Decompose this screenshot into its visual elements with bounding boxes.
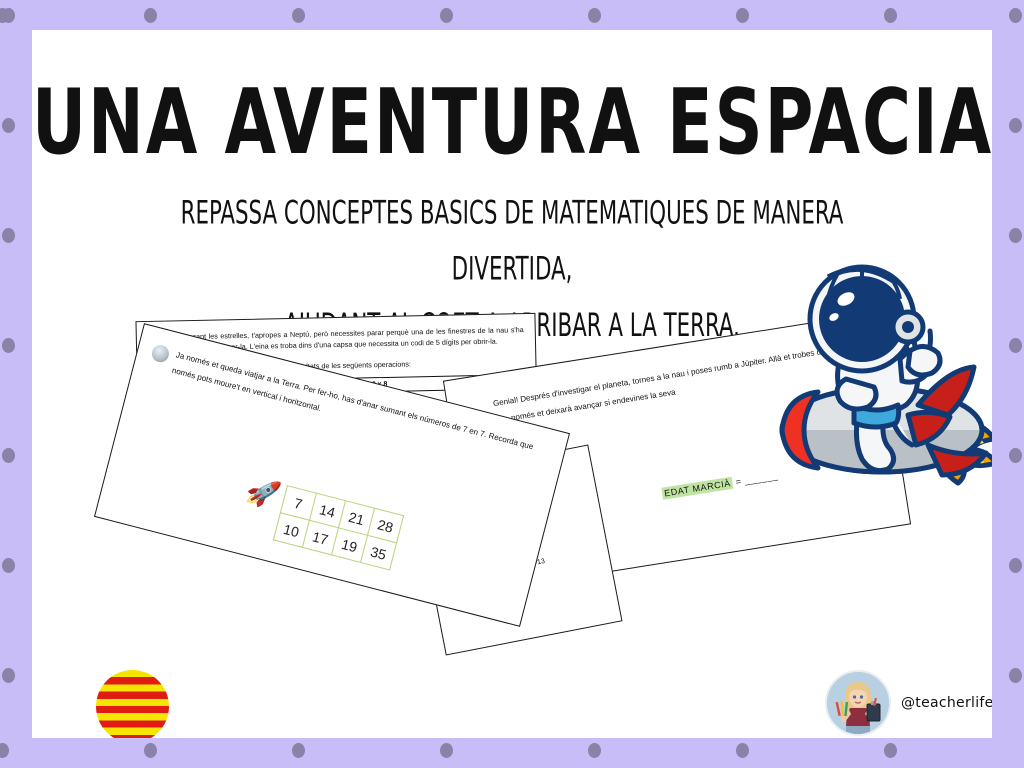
border-dot [884,743,897,758]
grid-cell[interactable]: 35 [361,535,397,570]
page-title: UNA AVENTURA ESPACIAL [32,70,992,175]
border-dot [588,8,601,23]
border-dot [2,558,15,573]
border-dot [292,8,305,23]
border-dot [1009,558,1022,573]
border-dot [144,8,157,23]
border-dot [736,743,749,758]
earth-moon-icon [150,343,171,364]
poster-root: UNA AVENTURA ESPACIAL REPASSA CONCEPTES … [0,0,1024,768]
border-dot [2,8,15,23]
border-dot [2,118,15,133]
border-dot [736,8,749,23]
border-dot [1009,8,1022,23]
border-dot [2,228,15,243]
card3-field-label: EDAT MARCIÀ [661,477,733,500]
astronaut-riding-rocket-illustration [750,255,992,525]
border-dot [0,743,9,758]
card2-number-grid[interactable]: 7 14 21 28 10 17 19 35 [273,485,404,570]
border-dot [1009,338,1022,353]
catalan-flag-circle [96,670,169,738]
border-dot [884,8,897,23]
border-dot [1009,668,1022,683]
rocket-icon: 🚀 [243,474,284,513]
border-dot [1009,118,1022,133]
border-dot [144,743,157,758]
handle-text: @teacherlife_paula [901,695,992,711]
border-dot [588,743,601,758]
credit-block: @teacherlife_paula [825,670,992,736]
border-dot [292,743,305,758]
border-dot [2,338,15,353]
border-dot [1009,448,1022,463]
border-dot [440,8,453,23]
border-dot [440,743,453,758]
border-dot [1009,228,1022,243]
poster-canvas: UNA AVENTURA ESPACIAL REPASSA CONCEPTES … [32,30,992,738]
teacher-bitmoji-avatar [825,670,891,736]
border-dot [2,448,15,463]
border-dot [2,668,15,683]
